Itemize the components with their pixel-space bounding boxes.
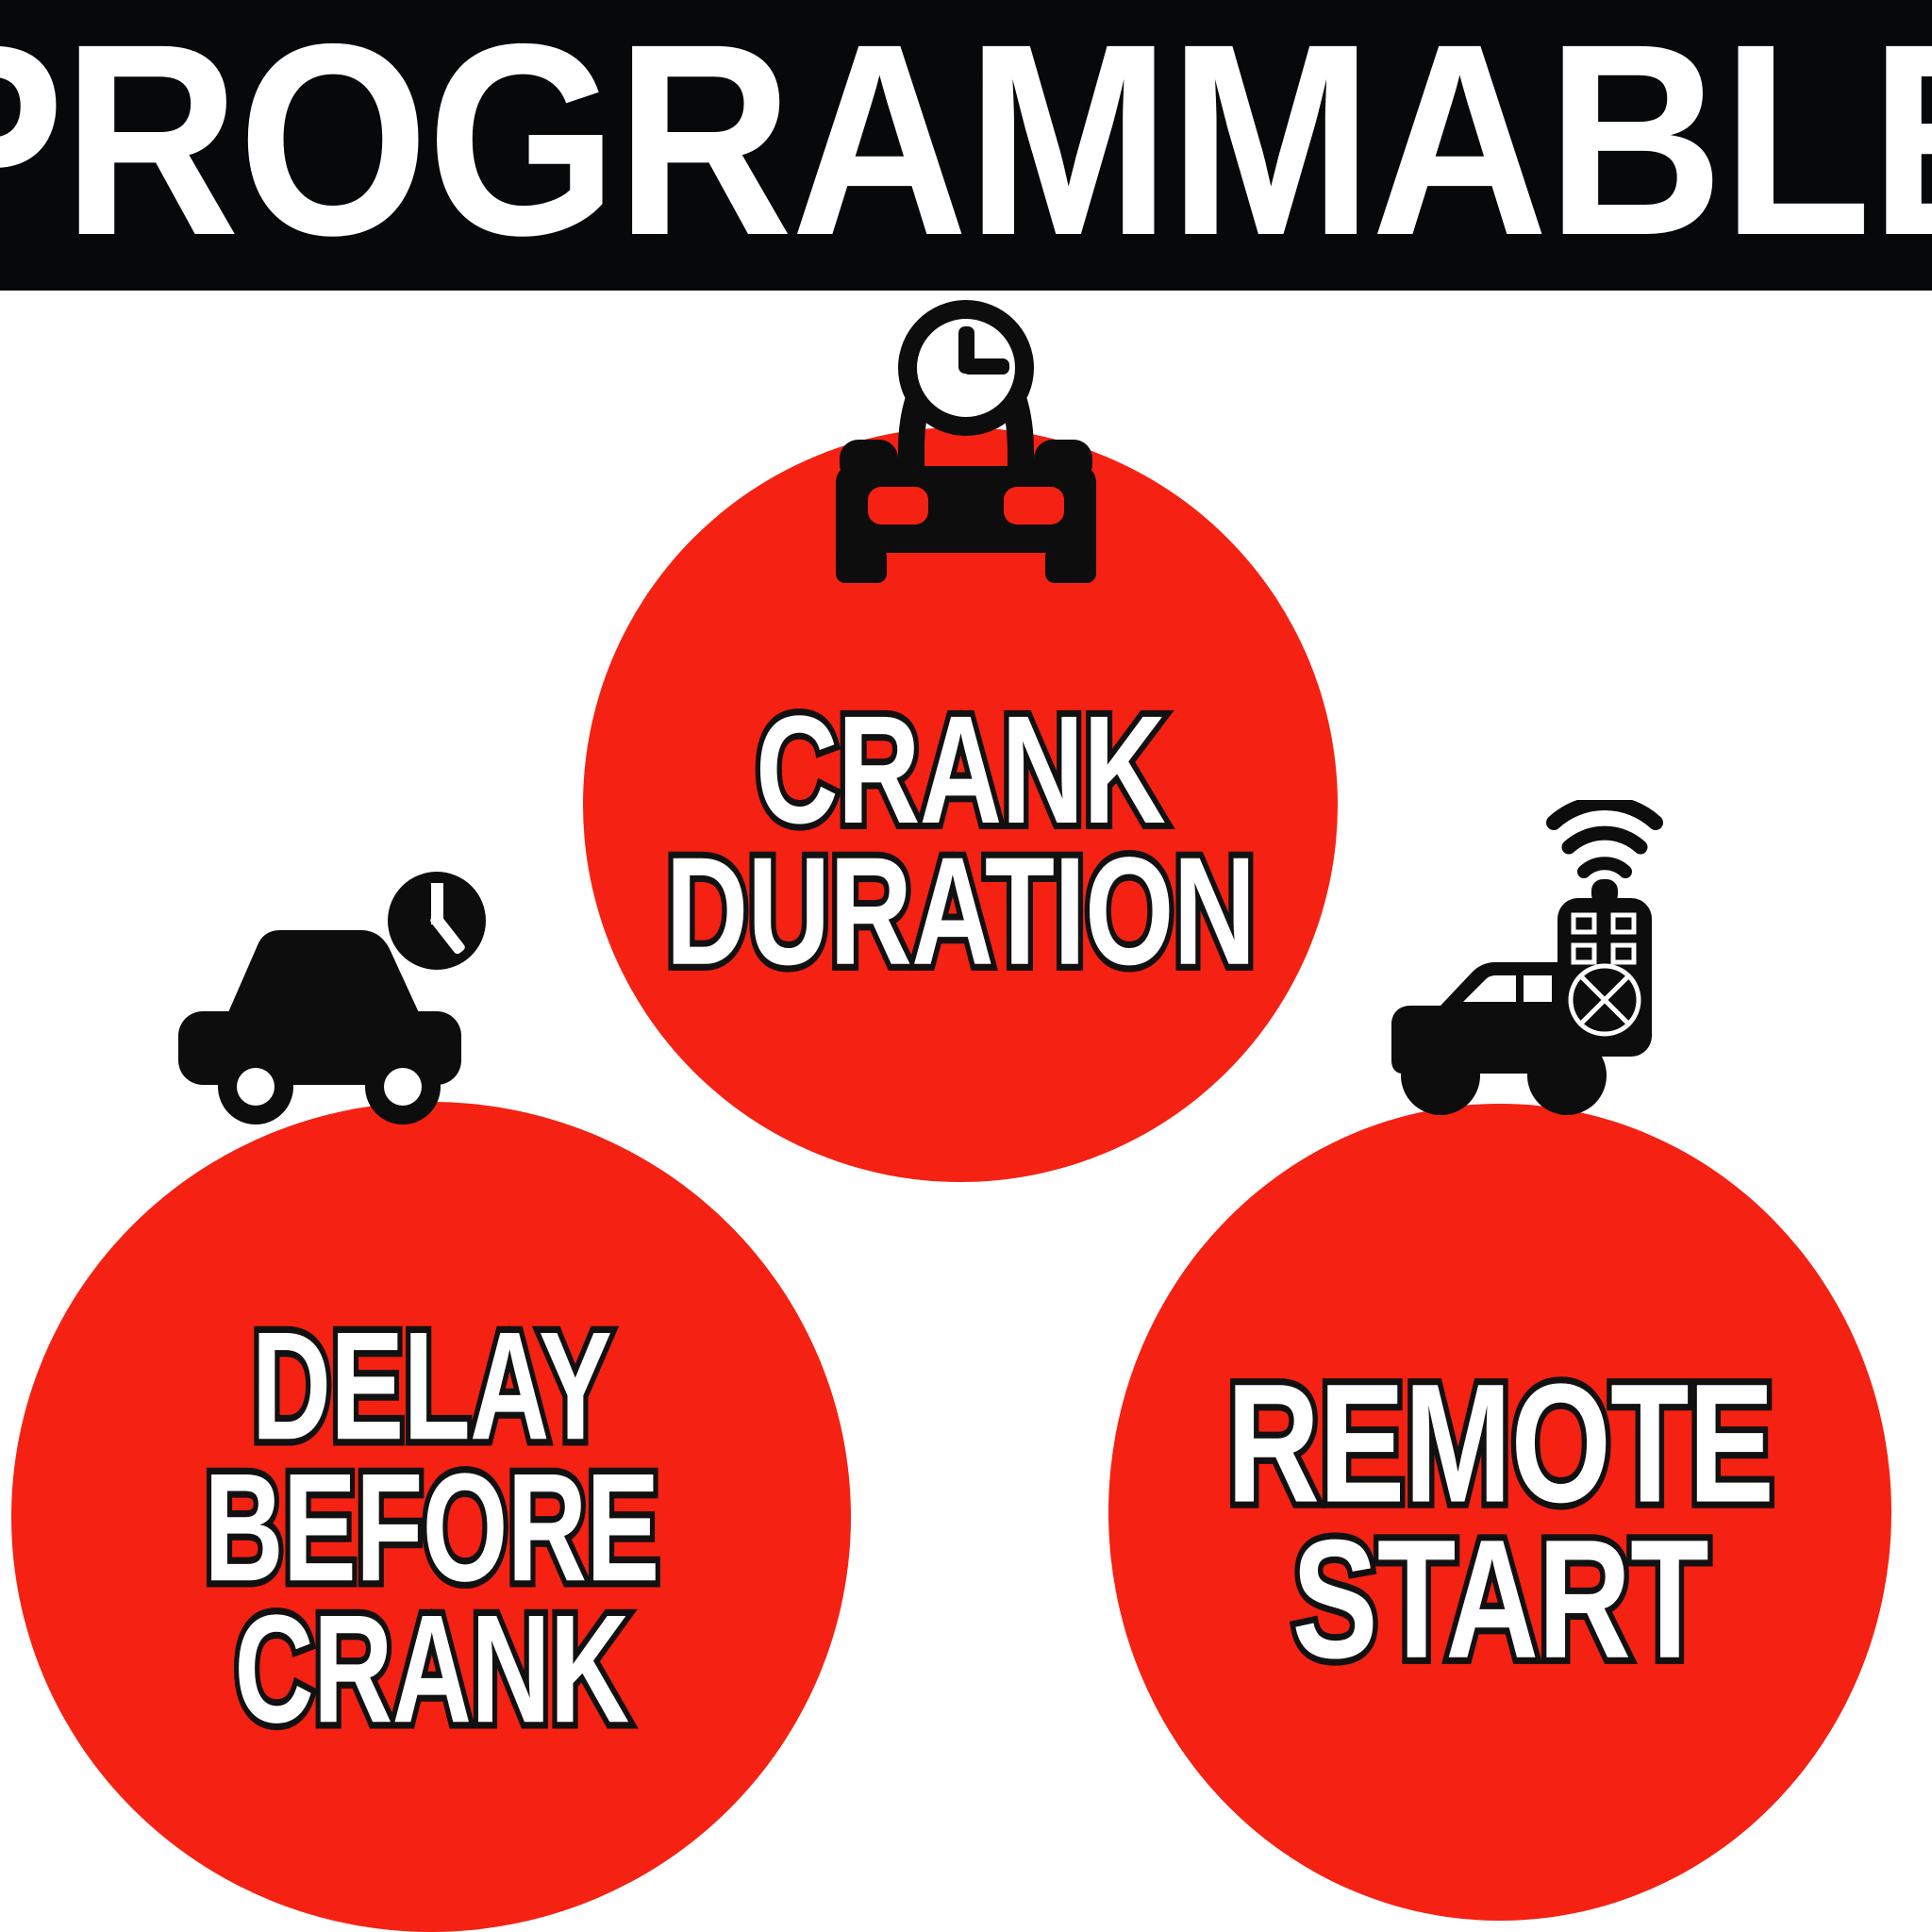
- badge-line: REMOTE: [1226, 1367, 1774, 1523]
- badge-line: CRANK: [666, 700, 1256, 841]
- car-keyfob-signal-icon: [1382, 800, 1759, 1130]
- badge-label-remote-start: REMOTE START: [1226, 1367, 1774, 1678]
- badge-line: CRANK: [204, 1599, 658, 1740]
- side-car-clock-icon: [175, 868, 486, 1132]
- badge-circle-remote-start[interactable]: REMOTE START: [1108, 1104, 1891, 1921]
- badge-line: DURATION: [666, 841, 1256, 983]
- badge-line: START: [1226, 1523, 1774, 1678]
- badge-circle-delay-before-crank[interactable]: DELAY BEFORE CRANK: [11, 1102, 851, 1932]
- badge-label-crank-duration: CRANK DURATION: [666, 700, 1256, 983]
- front-car-clock-icon: [819, 300, 1113, 583]
- badge-line: BEFORE: [204, 1457, 658, 1599]
- badges-stage: CRANK DURATION: [0, 291, 1932, 1932]
- badge-label-delay-before-crank: DELAY BEFORE CRANK: [204, 1316, 658, 1740]
- infographic-page: PROGRAMMABLE CRANK DURATION: [0, 0, 1932, 1932]
- header-banner: PROGRAMMABLE: [0, 0, 1932, 291]
- page-title: PROGRAMMABLE: [0, 20, 1932, 270]
- badge-line: DELAY: [204, 1316, 658, 1457]
